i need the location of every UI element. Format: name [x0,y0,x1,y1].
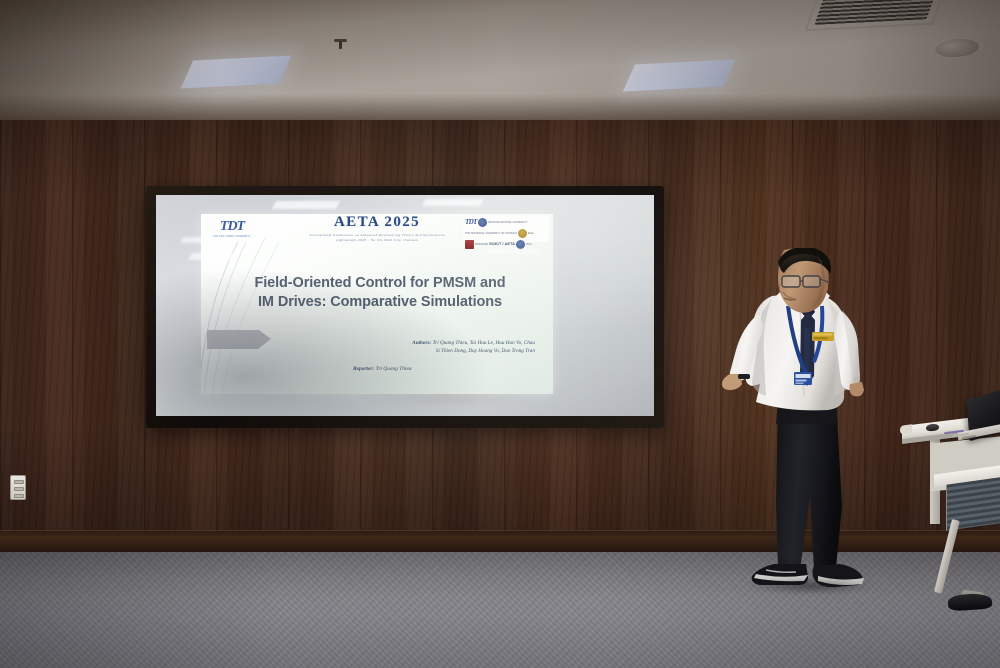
partner-logo: TDT [465,218,477,228]
partner-logo-label: SPRINGER [475,243,488,246]
partner-logo-label: IFAC [526,243,532,246]
screen-glare-streak [485,249,539,254]
screen-glare-streak [181,237,210,243]
slide-arrow-graphic [207,330,259,349]
partner-logo: IEEE [518,229,534,239]
partner-logo: IFAC [516,240,532,250]
presenter [718,248,898,593]
presenter-figure [718,248,898,593]
slide-title-line-1: Field-Oriented Control for PMSM and [223,274,537,293]
screen-glare-streak [188,253,237,260]
ceiling [0,0,1000,128]
screen-glare-streak [272,201,340,209]
slide-logo-bar: TDT TON DUC THANG UNIVERSITY AETA 2025 I… [201,214,553,244]
slide-title-line-2: IM Drives: Comparative Simulations [223,293,537,312]
authors-names-2: Si Thien Dong, Duy Hoang Vo, Dao Trong T… [327,348,535,356]
partner-logo-strip: TDT VIETNAM NATIONAL UNIVERSITY THE TECH… [463,216,549,242]
presenter-clicker [738,374,750,379]
slide-title: Field-Oriented Control for PMSM and IM D… [223,274,537,312]
partner-seal-icon [518,229,527,238]
seated-person-shoe [947,592,992,611]
presenter-floor-shadow [746,578,876,594]
reporter-label: Reporter: [353,366,374,372]
wall-outlet-left [10,475,26,500]
reporter-name: Tri Quang Thieu [376,366,412,372]
projection-screen-frame: TDT TON DUC THANG UNIVERSITY AETA 2025 I… [146,186,664,428]
partner-logo: SOICT / AETA [489,240,515,250]
screen-glare-streak [422,199,483,206]
presentation-slide: TDT TON DUC THANG UNIVERSITY AETA 2025 I… [201,214,553,394]
authors-names-1: Tri Quang Thieu, Tai Huu Le, Huu Han Vo,… [433,340,535,346]
partner-logo: VIETNAM NATIONAL UNIVERSITY [478,218,528,228]
partner-logo-label: IEEE [528,232,534,235]
presentation-room-photo: TDT TON DUC THANG UNIVERSITY AETA 2025 I… [0,0,1000,668]
authors-first-line: Authors: Tri Quang Thieu, Tai Huu Le, Hu… [327,340,535,348]
partner-seal-icon [478,218,487,227]
partner-logo-label: VIETNAM NATIONAL UNIVERSITY [488,221,528,224]
authors-label: Authors: [412,340,431,346]
presenter-chest-emblem [812,332,834,341]
partner-logo-label: THE TECHNICAL UNIVERSITY OF OSTRAVA [465,232,517,235]
projection-screen-surface: TDT TON DUC THANG UNIVERSITY AETA 2025 I… [156,195,654,416]
partner-logo: THE TECHNICAL UNIVERSITY OF OSTRAVA [465,229,517,239]
desk-corner-cap [900,424,912,434]
partner-seal-icon [465,240,474,249]
slide-reporter: Reporter: Tri Quang Thieu [327,366,535,372]
slide-authors: Authors: Tri Quang Thieu, Tai Huu Le, Hu… [327,340,535,356]
presenter-right-hand [850,382,865,396]
partner-logo-label: SOICT / AETA [489,242,515,247]
partner-logo: SPRINGER [465,240,488,250]
side-desk [900,398,1000,668]
partner-logo-label: TDT [465,218,477,226]
partner-seal-icon [516,240,525,249]
